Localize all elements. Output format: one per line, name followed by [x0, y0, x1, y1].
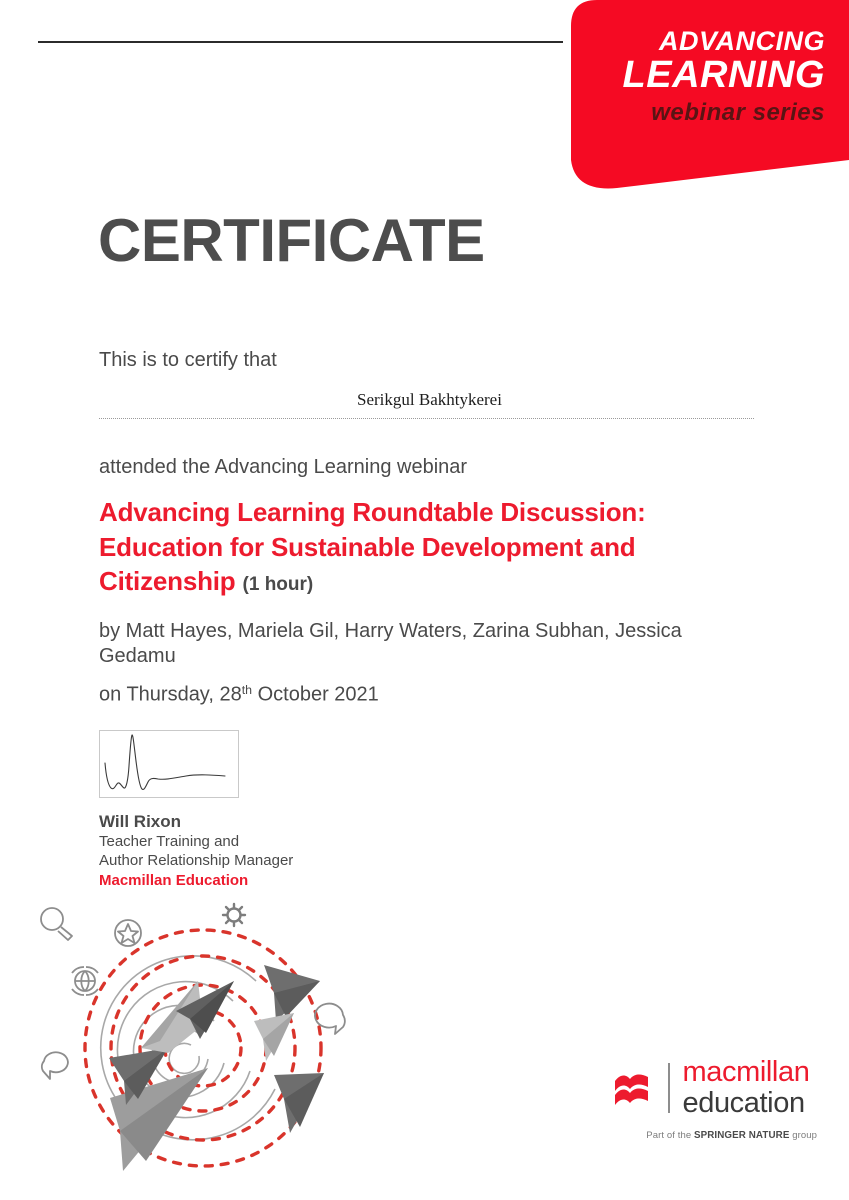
tagline-prefix: Part of the	[646, 1130, 694, 1141]
macmillan-education-logo: macmillan education Part of the SPRINGER…	[612, 1058, 817, 1150]
logo-word-education: education	[683, 1088, 810, 1118]
signer-organisation: Macmillan Education	[99, 871, 293, 891]
globe-icon	[72, 967, 98, 995]
signature-stroke	[105, 735, 225, 790]
lead-line: This is to certify that	[99, 348, 754, 372]
recipient-field: Serikgul Bakhtykerei	[99, 390, 754, 420]
logo-row: macmillan education	[612, 1058, 817, 1118]
certificate-page: ADVANCING LEARNING webinar series CERTIF…	[0, 0, 849, 1200]
signature-block: Will Rixon Teacher Training and Author R…	[99, 730, 293, 890]
signer-name: Will Rixon	[99, 812, 293, 832]
advancing-learning-banner: ADVANCING LEARNING webinar series	[557, 0, 849, 215]
tagline-suffix: group	[789, 1130, 817, 1141]
webinar-duration: (1 hour)	[243, 574, 314, 595]
signer-role-line-1: Teacher Training and	[99, 832, 293, 851]
event-date-prefix: on Thursday, 28	[99, 683, 242, 705]
banner-shape	[557, 0, 849, 188]
page-title: CERTIFICATE	[98, 211, 485, 271]
logo-wordmark: macmillan education	[683, 1058, 810, 1118]
star-circle-icon	[115, 920, 141, 946]
webinar-title: Advancing Learning Roundtable Discussion…	[99, 495, 754, 599]
tagline-brand: SPRINGER NATURE	[694, 1130, 789, 1141]
attended-line: attended the Advancing Learning webinar	[99, 456, 754, 479]
logo-tagline: Part of the SPRINGER NATURE group	[612, 1130, 817, 1141]
speech-bubble-small-icon	[42, 1052, 68, 1079]
decorative-artwork	[28, 893, 398, 1193]
event-date: on Thursday, 28th October 2021	[99, 683, 754, 706]
signer-role-line-2: Author Relationship Manager	[99, 851, 293, 870]
webinar-title-text: Advancing Learning Roundtable Discussion…	[99, 497, 646, 596]
recipient-name: Serikgul Bakhtykerei	[357, 390, 502, 410]
certificate-body: This is to certify that Serikgul Bakhtyk…	[99, 348, 754, 706]
magnifier-icon	[41, 908, 72, 940]
gear-icon	[223, 904, 245, 926]
recipient-dotted-rule	[99, 418, 754, 419]
top-divider-rule	[38, 41, 563, 43]
macmillan-m-mark-icon	[612, 1065, 658, 1111]
signature-box	[99, 730, 239, 798]
logo-word-macmillan: macmillan	[683, 1058, 810, 1088]
event-date-suffix: October 2021	[252, 683, 379, 705]
presenters-line: by Matt Hayes, Mariela Gil, Harry Waters…	[99, 619, 754, 670]
event-date-ordinal: th	[242, 683, 252, 697]
logo-divider	[668, 1063, 670, 1113]
